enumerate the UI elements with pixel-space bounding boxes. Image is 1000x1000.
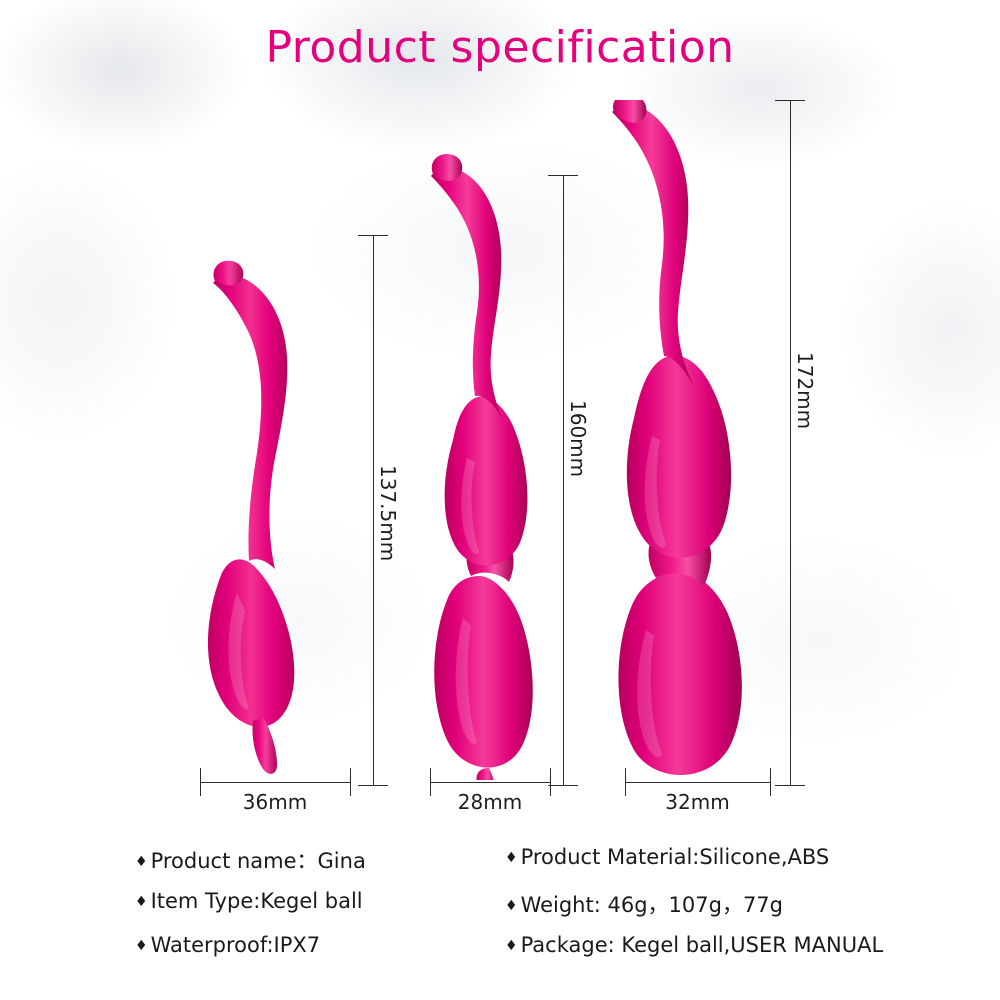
height-cap-bottom-small: [358, 785, 388, 786]
spec-column-left: ♦ Product name：Gina ♦ Item Type:Kegel ba…: [135, 845, 366, 977]
page-title: Product specification: [0, 22, 1000, 73]
product-image-medium: [415, 140, 585, 780]
bullet-icon: ♦: [505, 939, 518, 953]
width-line-small: [200, 782, 350, 783]
spec-text: Waterproof:IPX7: [151, 933, 321, 957]
spec-text: Item Type:Kegel ball: [151, 889, 363, 913]
spec-item-item-type: ♦ Item Type:Kegel ball: [135, 889, 366, 933]
height-line-small: [373, 235, 374, 785]
height-cap-top-medium: [548, 175, 578, 176]
spec-text: Weight: 46g，107g，77g: [521, 889, 783, 919]
product-image-small: [185, 225, 365, 785]
product-specification-page: Product specification: [0, 0, 1000, 1000]
spec-text: Product name：Gina: [151, 845, 366, 875]
spec-column-right: ♦ Product Material:Silicone,ABS ♦ Weight…: [505, 845, 883, 977]
bullet-icon: ♦: [135, 855, 148, 869]
height-label-small: 137.5mm: [376, 465, 400, 561]
height-cap-bottom-medium: [548, 785, 578, 786]
spec-item-product-name: ♦ Product name：Gina: [135, 845, 366, 889]
spec-item-weight: ♦ Weight: 46g，107g，77g: [505, 889, 883, 933]
spec-item-waterproof: ♦ Waterproof:IPX7: [135, 933, 366, 977]
bullet-icon: ♦: [505, 899, 518, 913]
height-line-large: [790, 100, 791, 785]
width-label-small: 36mm: [200, 790, 350, 814]
height-cap-top-large: [775, 100, 805, 101]
product-image-large: [600, 100, 790, 780]
spec-item-material: ♦ Product Material:Silicone,ABS: [505, 845, 883, 889]
height-line-medium: [563, 175, 564, 785]
width-label-large: 32mm: [625, 790, 770, 814]
width-line-large: [625, 782, 770, 783]
width-cap-right-large: [770, 768, 771, 796]
bullet-icon: ♦: [505, 851, 518, 865]
width-cap-right-small: [350, 768, 351, 796]
spec-text: Package: Kegel ball,USER MANUAL: [521, 933, 884, 957]
specification-list: ♦ Product name：Gina ♦ Item Type:Kegel ba…: [0, 845, 1000, 995]
width-line-medium: [430, 782, 550, 783]
width-cap-right-medium: [550, 768, 551, 796]
bullet-icon: ♦: [135, 939, 148, 953]
spec-item-package: ♦ Package: Kegel ball,USER MANUAL: [505, 933, 883, 977]
height-cap-top-small: [358, 235, 388, 236]
height-cap-bottom-large: [775, 785, 805, 786]
height-label-medium: 160mm: [566, 400, 590, 477]
height-label-large: 172mm: [793, 352, 817, 429]
width-label-medium: 28mm: [430, 790, 550, 814]
bullet-icon: ♦: [135, 895, 148, 909]
spec-text: Product Material:Silicone,ABS: [521, 845, 830, 869]
